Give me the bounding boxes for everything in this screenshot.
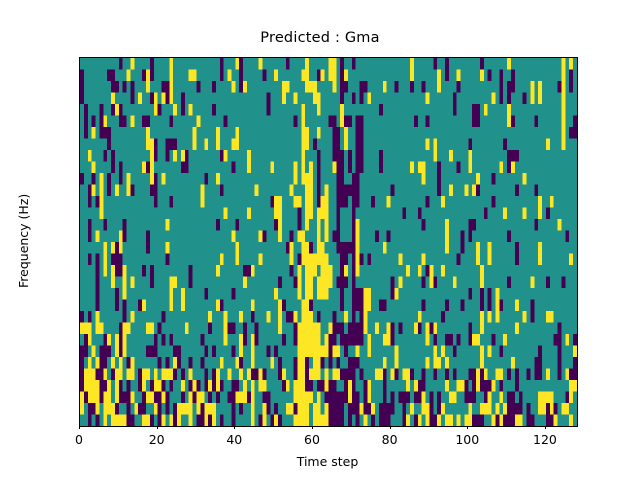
- x-tick-label: 40: [226, 432, 242, 447]
- x-tick-label: 100: [455, 432, 479, 447]
- heatmap-axes: [79, 57, 578, 427]
- x-tick-mark: [79, 426, 80, 430]
- y-tick-mark: [79, 369, 80, 370]
- y-axis-tick-labels: 020000400006000080000100000120000: [0, 0, 74, 480]
- x-tick-mark: [545, 426, 546, 430]
- x-tick-label: 20: [149, 432, 165, 447]
- x-tick-mark: [312, 426, 313, 430]
- heatmap-canvas: [80, 58, 577, 426]
- x-tick-label: 0: [75, 432, 83, 447]
- x-tick-mark: [467, 426, 468, 430]
- heatmap-image: [80, 58, 577, 426]
- y-tick-mark: [79, 84, 80, 85]
- x-tick-label: 120: [533, 432, 557, 447]
- chart-title: Predicted : Gma: [0, 30, 640, 46]
- y-tick-mark: [79, 255, 80, 256]
- y-tick-mark: [79, 198, 80, 199]
- x-axis-ticks: 020406080100120: [79, 426, 576, 450]
- x-tick-label: 60: [304, 432, 320, 447]
- y-tick-mark: [79, 312, 80, 313]
- matplotlib-figure: Predicted : Gma 020000400006000080000100…: [0, 0, 640, 480]
- x-tick-mark: [157, 426, 158, 430]
- x-tick-mark: [390, 426, 391, 430]
- x-tick-label: 80: [382, 432, 398, 447]
- x-axis-label: Time step: [79, 454, 576, 469]
- y-tick-mark: [79, 141, 80, 142]
- y-axis-label: Frequency (Hz): [16, 194, 31, 288]
- x-tick-mark: [234, 426, 235, 430]
